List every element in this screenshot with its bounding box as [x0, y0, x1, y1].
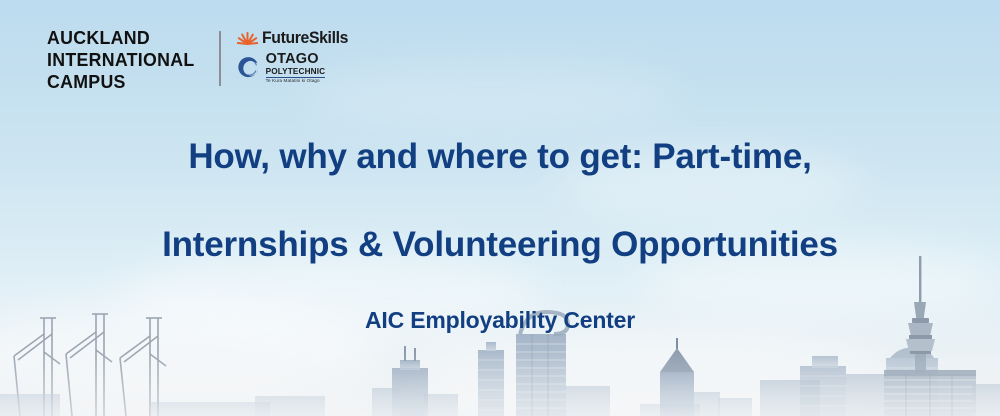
- futureskills-logo: FutureSkills: [237, 28, 355, 48]
- otago-sub: POLYTECHNIC: [266, 68, 326, 78]
- cloud-haze: [300, 60, 680, 130]
- skyline-haze-overlay: [0, 352, 1000, 416]
- logo-divider: [219, 31, 221, 86]
- auckland-international-campus-logo: AUCKLAND INTERNATIONAL CAMPUS: [47, 27, 194, 92]
- otago-maori-name: Te Kura Matatini ki Otago: [266, 79, 326, 84]
- sunburst-icon: [237, 30, 258, 46]
- presentation-slide: AUCKLAND INTERNATIONAL CAMPUS FutureSkil…: [0, 0, 1000, 416]
- partner-logos: FutureSkills OTAGO POLYTECHNIC Te Kura M…: [237, 27, 355, 84]
- otago-wordmark: OTAGO POLYTECHNIC Te Kura Matatini ki Ot…: [266, 52, 326, 84]
- slide-title-line-1: How, why and where to get: Part-time,: [0, 137, 1000, 177]
- logo-bar: AUCKLAND INTERNATIONAL CAMPUS FutureSkil…: [47, 27, 354, 92]
- slide-subtitle: AIC Employability Center: [0, 307, 1000, 334]
- skyline-illustration: [0, 256, 1000, 416]
- futureskills-wordmark: FutureSkills: [262, 28, 348, 48]
- otago-name: OTAGO: [266, 52, 326, 67]
- slide-title-line-2: Internships & Volunteering Opportunities: [0, 225, 1000, 265]
- koru-spiral-icon: [237, 56, 261, 80]
- otago-polytechnic-logo: OTAGO POLYTECHNIC Te Kura Matatini ki Ot…: [237, 52, 355, 84]
